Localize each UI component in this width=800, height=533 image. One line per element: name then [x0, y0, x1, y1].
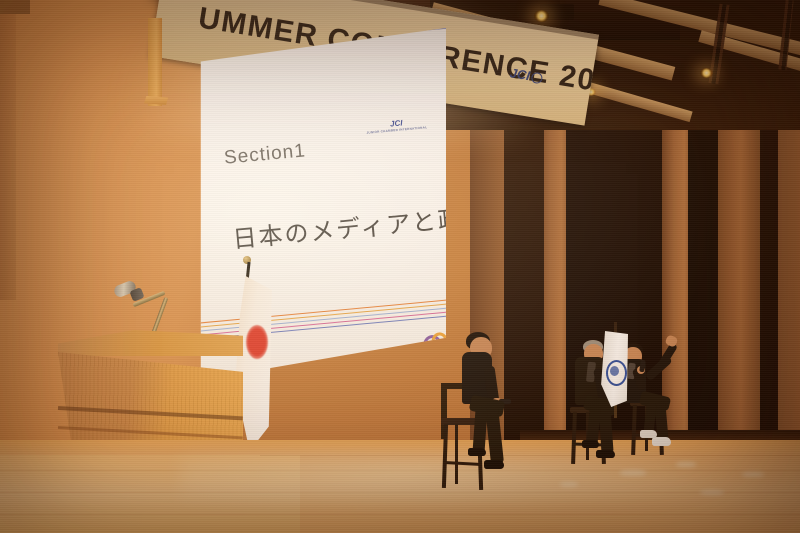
slide-content: JCI JUNIOR CHAMBER INTERNATIONAL Section…	[178, 28, 446, 380]
panelist-shoe-2	[582, 440, 599, 448]
floor-glint	[742, 472, 764, 477]
japanese-flag-sun-emblem	[246, 325, 268, 359]
floor-plank-line	[0, 514, 800, 515]
slide-section-label: Section1	[223, 140, 307, 169]
conference-stage-photo: UMMER CONFERENCE 2017 JCI JCI JUNIOR CHA…	[0, 0, 800, 533]
lectern-side-column	[148, 18, 162, 106]
panelist-shoe	[484, 460, 504, 469]
wall-pillar-3	[718, 96, 764, 448]
panelist-sneaker-2	[640, 430, 657, 438]
panelist-shoe	[596, 450, 615, 458]
slide-title: 日本のメディアと政治	[231, 196, 446, 254]
floor-glint	[676, 462, 696, 467]
slide-top-stripes	[178, 28, 446, 62]
panelist-sneaker	[652, 437, 671, 446]
left-wall-trim	[0, 0, 30, 14]
left-wall-edge	[0, 0, 16, 300]
floor-glint	[700, 490, 724, 495]
ceiling-light-5	[700, 68, 713, 78]
banner-jci-text: JCI	[509, 65, 531, 83]
projection-screen: JCI JUNIOR CHAMBER INTERNATIONAL Section…	[178, 28, 446, 380]
floor-glint	[560, 482, 578, 487]
slide-logo-orange-ring-icon	[431, 332, 446, 350]
slide-logo-tag	[443, 339, 446, 347]
panelist-shoe-2	[468, 448, 486, 456]
lectern-top	[58, 330, 243, 356]
slide-jci-logo: JCI JUNIOR CHAMBER INTERNATIONAL	[366, 117, 428, 135]
jci-flag-emblem-inner-icon	[610, 366, 619, 376]
wall-pillar-4	[778, 100, 800, 450]
floor-glint	[620, 470, 646, 476]
banner-jci-ring-icon	[531, 72, 544, 85]
